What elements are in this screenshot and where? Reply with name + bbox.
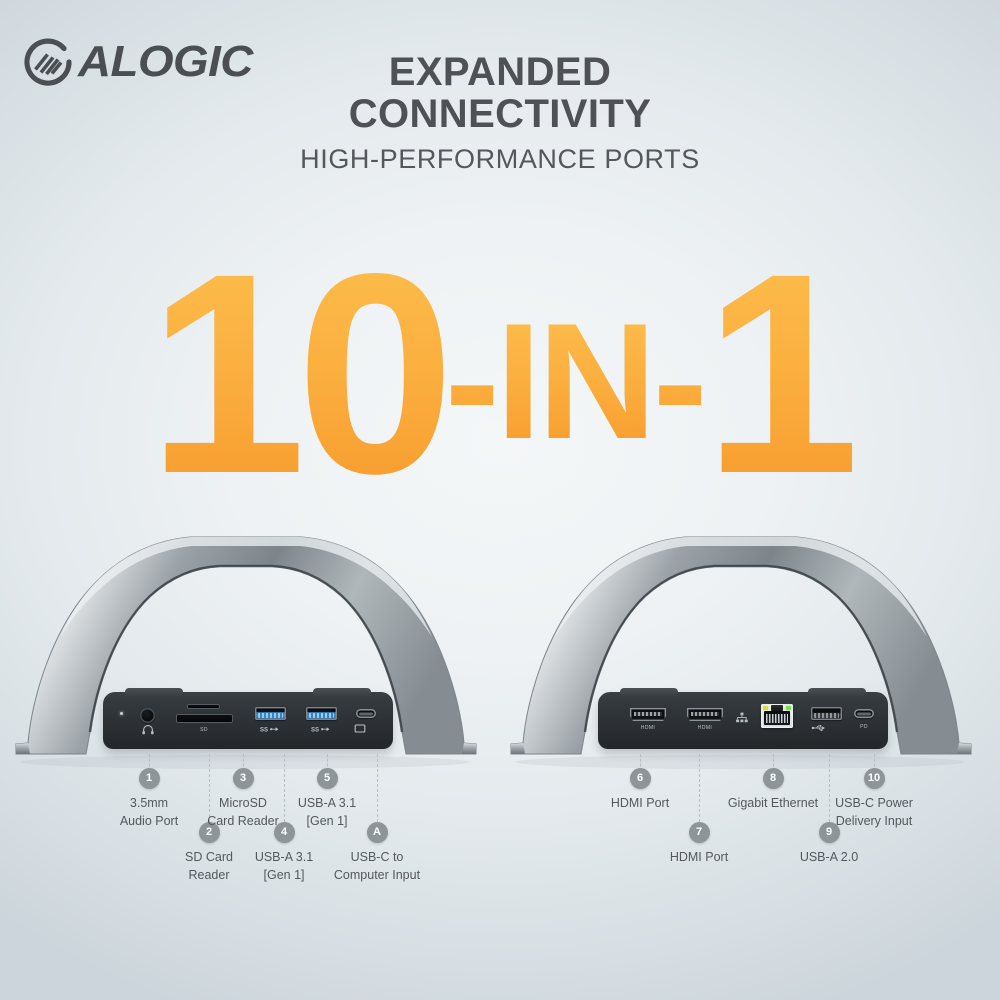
- callout-a-label: USB-C to Computer Input: [312, 848, 442, 884]
- usb-a-tongue: [309, 713, 334, 718]
- sd-card-slot[interactable]: [176, 714, 233, 723]
- panel-notch-left: [620, 688, 678, 696]
- ethernet-led-amber: [763, 706, 768, 710]
- headline-line-2: CONNECTIVITY: [0, 94, 1000, 136]
- usb-trident-icon: [812, 724, 827, 732]
- usb-a-20-port[interactable]: [811, 707, 842, 720]
- hdmi-port-1-label: HDMI: [641, 725, 655, 731]
- headphone-icon: [142, 725, 154, 735]
- callout-10-line1: USB-C Power: [809, 794, 939, 812]
- sd-slot-label: SD: [200, 727, 208, 733]
- callout-6-label: HDMI Port: [575, 794, 705, 812]
- hero-count-separator: -IN-: [445, 299, 704, 464]
- panel-notch-right: [808, 688, 866, 696]
- audio-jack-hole: [140, 708, 155, 723]
- docking-station-rear: HDMI HDMI: [505, 496, 975, 771]
- callout-5-line1: USB-A 3.1: [262, 794, 392, 812]
- callout-7-label: HDMI Port: [634, 848, 764, 866]
- callout-a[interactable]: A USB-C to Computer Input: [312, 822, 442, 884]
- callout-10-line2: Delivery Input: [809, 812, 939, 830]
- hdmi-port-2[interactable]: [687, 708, 723, 721]
- gigabit-ethernet-port[interactable]: [761, 704, 793, 728]
- usb-a-31-port-1[interactable]: [255, 707, 286, 720]
- svg-text:SS: SS: [311, 727, 319, 733]
- docking-station-front: SD SS SS: [10, 496, 480, 771]
- port-panel-front: SD SS SS: [103, 692, 393, 749]
- port-panel-rear: HDMI HDMI: [598, 692, 888, 749]
- callout-6-badge: 6: [630, 768, 651, 789]
- callout-6[interactable]: 6 HDMI Port: [575, 768, 705, 812]
- hdmi-port-2-label: HDMI: [698, 725, 712, 731]
- callout-6-line1: HDMI Port: [575, 794, 705, 812]
- usb-a-tongue: [258, 713, 283, 718]
- hero-count-number: 10: [148, 232, 445, 517]
- panel-notch-right: [313, 688, 371, 696]
- callout-7-badge: 7: [689, 822, 710, 843]
- callout-10-badge: 10: [864, 768, 885, 789]
- usb-c-pd-port[interactable]: [854, 709, 874, 718]
- panel-notch-left: [125, 688, 183, 696]
- network-icon: [736, 712, 749, 723]
- microsd-card-slot[interactable]: [187, 704, 220, 709]
- laptop-icon: [354, 724, 366, 734]
- hero-count: 10-IN-1: [0, 232, 1000, 517]
- usb-a-31-port-2[interactable]: [306, 707, 337, 720]
- hero-count-one: 1: [704, 232, 853, 517]
- callout-9-label: USB-A 2.0: [764, 848, 894, 866]
- callout-7[interactable]: 7 HDMI Port: [634, 822, 764, 866]
- callout-7-line1: HDMI Port: [634, 848, 764, 866]
- callout-5-badge: 5: [317, 768, 338, 789]
- headline-subtitle: HIGH-PERFORMANCE PORTS: [0, 144, 1000, 175]
- status-led-icon: [120, 712, 123, 715]
- usb-c-host-port[interactable]: [356, 709, 376, 718]
- hdmi-port-1[interactable]: [630, 708, 666, 721]
- callout-a-line2: Computer Input: [312, 866, 442, 884]
- callout-10[interactable]: 10 USB-C Power Delivery Input: [809, 768, 939, 830]
- superspeed-usb-icon-1: SS: [260, 725, 280, 733]
- rj45-contacts: [764, 711, 790, 725]
- ethernet-led-green: [786, 706, 791, 710]
- infographic-canvas: ALOGIC EXPANDED CONNECTIVITY HIGH-PERFOR…: [0, 0, 1000, 1000]
- callout-5[interactable]: 5 USB-A 3.1 [Gen 1]: [262, 768, 392, 830]
- usb-a-tongue: [814, 713, 839, 718]
- callout-a-badge: A: [367, 822, 388, 843]
- svg-text:SS: SS: [260, 727, 268, 733]
- headline-block: EXPANDED CONNECTIVITY HIGH-PERFORMANCE P…: [0, 52, 1000, 175]
- callout-9-line1: USB-A 2.0: [764, 848, 894, 866]
- superspeed-usb-icon-2: SS: [311, 725, 331, 733]
- callout-8-badge: 8: [763, 768, 784, 789]
- callout-1-badge: 1: [139, 768, 160, 789]
- callout-3-badge: 3: [233, 768, 254, 789]
- audio-jack-port[interactable]: [140, 708, 155, 723]
- callout-10-label: USB-C Power Delivery Input: [809, 794, 939, 830]
- usb-c-pd-label: PD: [860, 724, 868, 730]
- callout-a-line1: USB-C to: [312, 848, 442, 866]
- headline-line-1: EXPANDED: [0, 52, 1000, 94]
